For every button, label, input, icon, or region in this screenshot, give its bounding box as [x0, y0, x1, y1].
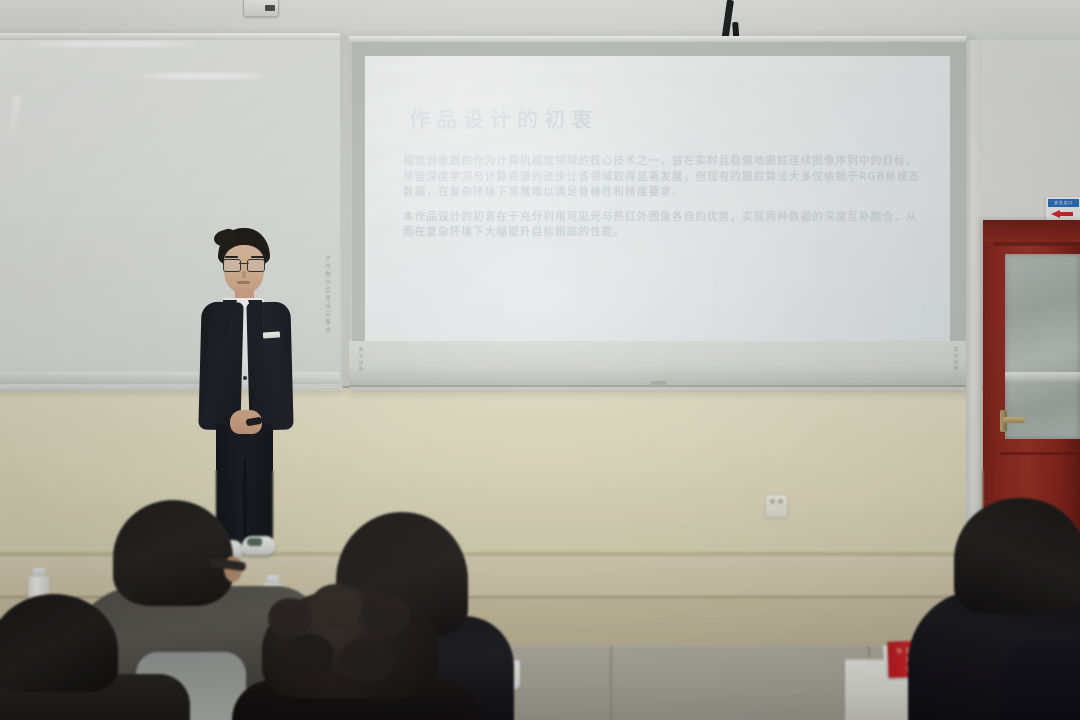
presenter-lapel-right [248, 300, 262, 344]
slide-paragraph-2: 本作品设计的初衷在于充分利用可见光与热红外图像各自的优势，实现两种数据的深度互补… [403, 210, 923, 241]
presenter-jacket-button [243, 376, 247, 380]
door-frosted-glass [1005, 254, 1080, 439]
audience-member [0, 594, 180, 720]
presenter-nose [242, 271, 246, 278]
glasses-icon [223, 259, 265, 270]
door-panel-groove [1000, 452, 1080, 455]
slide-paragraph-1: 视觉对象跟踪作为计算机视觉领域的核心技术之一，旨在实时且稳健地跟踪连续图像序列中… [403, 154, 923, 201]
presenter-lapel-left [223, 300, 237, 344]
whiteboard-vertical-note: 学校教学管理规定要求 [323, 255, 331, 335]
projection-board-frame-top [349, 36, 966, 42]
exit-sign: 安全出口 [1045, 196, 1080, 222]
audience-member [1000, 640, 1080, 720]
whiteboard-glare [18, 41, 198, 47]
door-header-groove [993, 242, 1080, 246]
door-handle[interactable] [1003, 417, 1025, 423]
classroom-presentation-photo: 学校教学管理规定要求 作品设计的初衷 视觉对象跟踪作为计算机视觉领域的核心技术之… [0, 0, 1080, 720]
projected-slide: 作品设计的初衷 视觉对象跟踪作为计算机视觉领域的核心技术之一，旨在实时且稳健地跟… [365, 56, 950, 344]
audience-member [248, 588, 478, 720]
wall-column-right [966, 40, 982, 552]
whiteboard-glare [132, 73, 269, 79]
whiteboard-left-frame-top [0, 33, 340, 40]
ceiling-speaker-icon [243, 0, 279, 17]
slide-title: 作品设计的初衷 [409, 104, 598, 134]
floor-seam [610, 646, 612, 720]
power-outlet[interactable] [765, 494, 788, 518]
slide-body: 视觉对象跟踪作为计算机视觉领域的核心技术之一，旨在实时且稳健地跟踪连续图像序列中… [403, 154, 923, 250]
door-header [983, 220, 1080, 242]
presenter-pocket-square [263, 331, 280, 338]
projection-board-clip [651, 381, 667, 386]
exit-sign-label: 安全出口 [1048, 199, 1079, 207]
exit-arrow-left-icon [1051, 210, 1073, 218]
projection-board-label-left: 教学设备 [357, 347, 363, 373]
presenter-mouth [237, 281, 250, 284]
exit-sign-header: 安全出口 [1048, 199, 1079, 207]
projection-board-label-right: 操作说明 [952, 347, 958, 373]
